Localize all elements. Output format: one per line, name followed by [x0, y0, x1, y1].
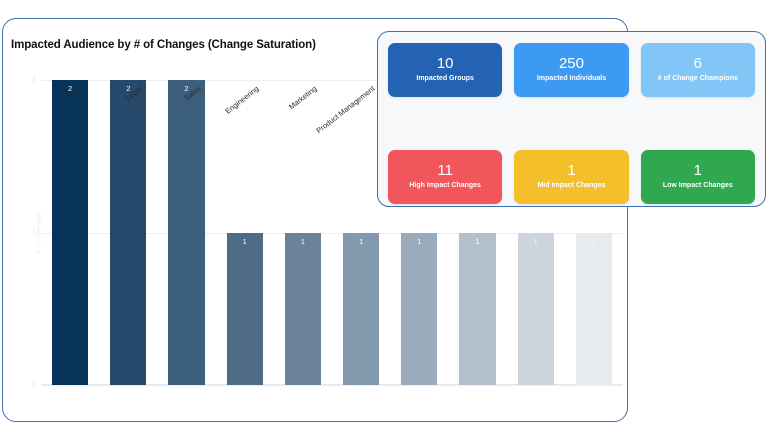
- bar-slot[interactable]: 2: [52, 80, 88, 385]
- kpi-card[interactable]: 1Mid Impact Changes: [514, 150, 628, 204]
- kpi-label: # of Change Champions: [658, 74, 738, 84]
- bar-value-label: 1: [576, 237, 612, 246]
- y-tick-label: 1: [32, 229, 36, 236]
- bar[interactable]: 2: [110, 80, 146, 385]
- bar-slot[interactable]: 1: [401, 233, 437, 386]
- bar[interactable]: 1: [459, 233, 495, 386]
- bar-value-label: 1: [459, 237, 495, 246]
- bar-value-label: 1: [401, 237, 437, 246]
- kpi-label: Impacted Individuals: [537, 74, 606, 84]
- screenshot-root: Impacted Audience by # of Changes (Chang…: [0, 0, 768, 432]
- bar-value-label: 1: [285, 237, 321, 246]
- bar[interactable]: 1: [518, 233, 554, 386]
- bar-slot[interactable]: 1: [576, 233, 612, 386]
- bar-value-label: 1: [343, 237, 379, 246]
- kpi-label: Mid Impact Changes: [537, 181, 605, 191]
- kpi-row-bottom: 11High Impact Changes1Mid Impact Changes…: [388, 150, 755, 204]
- bar-value-label: 1: [518, 237, 554, 246]
- bar-value-label: 1: [227, 237, 263, 246]
- bar-slot[interactable]: 2: [110, 80, 146, 385]
- kpi-card[interactable]: 10Impacted Groups: [388, 43, 502, 97]
- chart-title: Impacted Audience by # of Changes (Chang…: [11, 39, 316, 51]
- bar-slot[interactable]: 1: [518, 233, 554, 386]
- bar-slot[interactable]: 1: [343, 233, 379, 386]
- kpi-label: Impacted Groups: [416, 74, 474, 84]
- bar[interactable]: 1: [576, 233, 612, 386]
- kpi-value: 10: [437, 56, 454, 72]
- kpi-card[interactable]: 1Low Impact Changes: [641, 150, 755, 204]
- y-tick-label: 0: [32, 382, 36, 389]
- kpi-card[interactable]: 6# of Change Champions: [641, 43, 755, 97]
- y-tick-label: 2: [32, 77, 36, 84]
- bar-slot[interactable]: 1: [285, 233, 321, 386]
- kpi-value: 1: [567, 163, 575, 179]
- kpi-card[interactable]: 11High Impact Changes: [388, 150, 502, 204]
- kpi-value: 250: [559, 56, 584, 72]
- kpi-value: 1: [694, 163, 702, 179]
- bar[interactable]: 1: [401, 233, 437, 386]
- kpi-value: 11: [437, 163, 453, 179]
- kpi-card[interactable]: 250Impacted Individuals: [514, 43, 628, 97]
- bar-slot[interactable]: 2: [168, 80, 204, 385]
- bar[interactable]: 1: [227, 233, 263, 386]
- bar-slot[interactable]: 1: [227, 233, 263, 386]
- bar[interactable]: 1: [343, 233, 379, 386]
- bar-slot[interactable]: 1: [459, 233, 495, 386]
- kpi-label: High Impact Changes: [409, 181, 481, 191]
- kpi-label: Low Impact Changes: [663, 181, 733, 191]
- kpi-value: 6: [694, 56, 702, 72]
- bar[interactable]: 2: [168, 80, 204, 385]
- kpi-row-top: 10Impacted Groups250Impacted Individuals…: [388, 43, 755, 97]
- gridline: [41, 385, 623, 386]
- kpi-panel: 10Impacted Groups250Impacted Individuals…: [377, 31, 766, 207]
- bar[interactable]: 1: [285, 233, 321, 386]
- bar[interactable]: 2: [52, 80, 88, 385]
